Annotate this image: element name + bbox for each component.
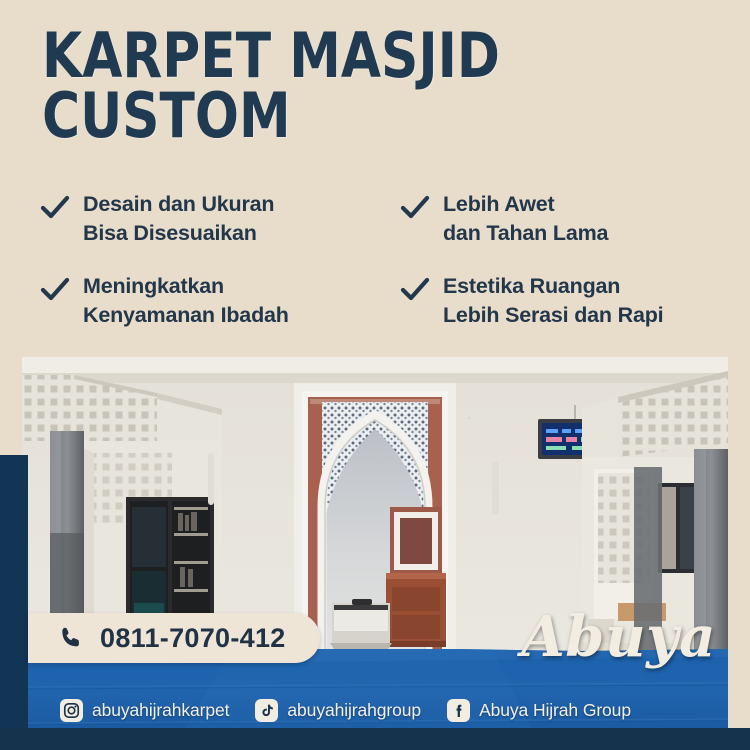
bottom-accent-strip <box>0 728 750 750</box>
headline-line-2: CUSTOM <box>42 86 656 146</box>
feature-1-line-2: Bisa Disesuaikan <box>83 219 274 248</box>
phone-icon <box>58 625 84 651</box>
feature-4-line-1: Estetika Ruangan <box>443 272 663 301</box>
feature-text-1: Desain dan Ukuran Bisa Disesuaikan <box>83 190 274 247</box>
feature-text-3: Meningkatkan Kenyamanan Ibadah <box>83 272 289 329</box>
check-icon <box>400 275 430 305</box>
feature-3-line-1: Meningkatkan <box>83 272 289 301</box>
feature-1-line-1: Desain dan Ukuran <box>83 190 274 219</box>
poster-canvas: KARPET MASJID CUSTOM Desain dan Ukuran B… <box>0 0 750 750</box>
phone-contact-pill[interactable]: 0811-7070-412 <box>28 613 320 663</box>
instagram-handle: abuyahijrahkarpet <box>92 700 229 721</box>
instagram-icon <box>60 699 83 722</box>
check-icon <box>400 193 430 223</box>
phone-number: 0811-7070-412 <box>100 623 286 654</box>
social-links-bar: abuyahijrahkarpet abuyahijrahgroup Abuya… <box>60 699 631 722</box>
feature-2-line-2: dan Tahan Lama <box>443 219 608 248</box>
feature-text-2: Lebih Awet dan Tahan Lama <box>443 190 608 247</box>
social-item-facebook[interactable]: Abuya Hijrah Group <box>447 699 631 722</box>
facebook-handle: Abuya Hijrah Group <box>479 700 631 721</box>
check-icon <box>40 275 70 305</box>
facebook-icon <box>447 699 470 722</box>
feature-item-4: Estetika Ruangan Lebih Serasi dan Rapi <box>400 272 730 354</box>
feature-2-line-1: Lebih Awet <box>443 190 608 219</box>
feature-item-3: Meningkatkan Kenyamanan Ibadah <box>40 272 400 354</box>
feature-item-2: Lebih Awet dan Tahan Lama <box>400 190 730 272</box>
brand-wordmark: Abuya <box>521 604 716 670</box>
feature-3-line-2: Kenyamanan Ibadah <box>83 301 289 330</box>
check-icon <box>40 193 70 223</box>
social-item-tiktok[interactable]: abuyahijrahgroup <box>255 699 421 722</box>
tiktok-icon <box>255 699 278 722</box>
feature-item-1: Desain dan Ukuran Bisa Disesuaikan <box>40 190 400 272</box>
social-item-instagram[interactable]: abuyahijrahkarpet <box>60 699 229 722</box>
feature-list: Desain dan Ukuran Bisa Disesuaikan Lebih… <box>40 190 730 354</box>
tiktok-handle: abuyahijrahgroup <box>287 700 421 721</box>
feature-text-4: Estetika Ruangan Lebih Serasi dan Rapi <box>443 272 663 329</box>
left-accent-panel <box>0 455 28 750</box>
mosque-interior-photo <box>22 357 728 750</box>
feature-4-line-2: Lebih Serasi dan Rapi <box>443 301 663 330</box>
mosque-interior-illustration <box>22 357 728 750</box>
page-title: KARPET MASJID CUSTOM <box>42 26 656 146</box>
